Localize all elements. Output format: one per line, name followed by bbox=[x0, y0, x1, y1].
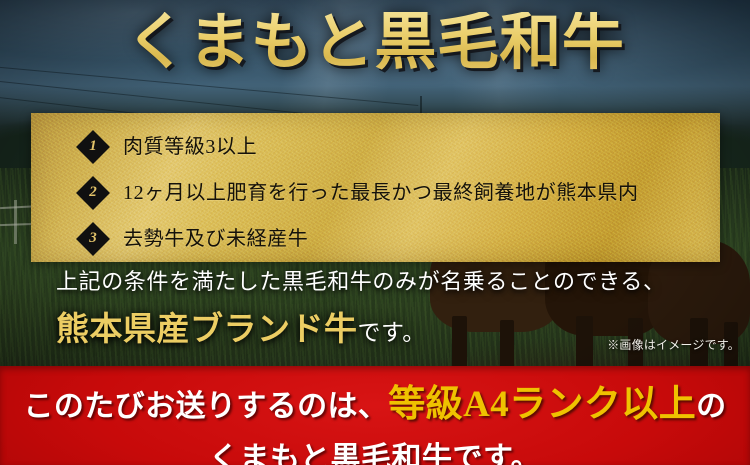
condition-item-1: 1 肉質等級3以上 bbox=[31, 126, 720, 167]
image-disclaimer: ※画像はイメージです。 bbox=[607, 336, 740, 353]
condition-number: 3 bbox=[78, 224, 108, 254]
brand-name-highlight: 熊本県産ブランド牛 bbox=[56, 312, 358, 348]
condition-number: 2 bbox=[78, 178, 108, 208]
footer-line-1: このたびお送りするのは、等級A4ランク以上の bbox=[0, 373, 750, 427]
condition-number: 1 bbox=[78, 132, 108, 162]
condition-text: 肉質等級3以上 bbox=[123, 137, 257, 157]
grade-highlight: 等級A4ランク以上 bbox=[388, 384, 696, 425]
kumamoto-wagyu-promo-banner: くまもと黒毛和牛 1 肉質等級3以上 2 12ヶ月以上肥育を行った最長かつ最終飼… bbox=[0, 0, 750, 465]
footer-prefix-text: このたびお送りするのは、 bbox=[23, 390, 388, 423]
footer-banner: このたびお送りするのは、等級A4ランク以上の くまもと黒毛和牛です。 bbox=[0, 366, 750, 465]
condition-text: 12ヶ月以上肥育を行った最長かつ最終飼養地が熊本県内 bbox=[123, 183, 639, 203]
diamond-badge-icon: 1 bbox=[78, 132, 108, 162]
footer-line-2: くまもと黒毛和牛です。 bbox=[0, 433, 750, 465]
conditions-list: 1 肉質等級3以上 2 12ヶ月以上肥育を行った最長かつ最終飼養地が熊本県内 3… bbox=[31, 113, 720, 259]
condition-item-2: 2 12ヶ月以上肥育を行った最長かつ最終飼養地が熊本県内 bbox=[31, 172, 720, 213]
statement-tail: です。 bbox=[358, 320, 426, 345]
diamond-badge-icon: 3 bbox=[78, 224, 108, 254]
diamond-badge-icon: 2 bbox=[78, 178, 108, 208]
condition-item-3: 3 去勢牛及び未経産牛 bbox=[31, 218, 720, 259]
footer-suffix-text: の bbox=[696, 390, 726, 423]
page-title: くまもと黒毛和牛 bbox=[0, 12, 750, 75]
statement-line-1: 上記の条件を満たした黒毛和牛のみが名乗ることのできる、 bbox=[56, 268, 750, 296]
condition-text: 去勢牛及び未経産牛 bbox=[123, 229, 308, 249]
conditions-panel: 1 肉質等級3以上 2 12ヶ月以上肥育を行った最長かつ最終飼養地が熊本県内 3… bbox=[31, 113, 720, 262]
